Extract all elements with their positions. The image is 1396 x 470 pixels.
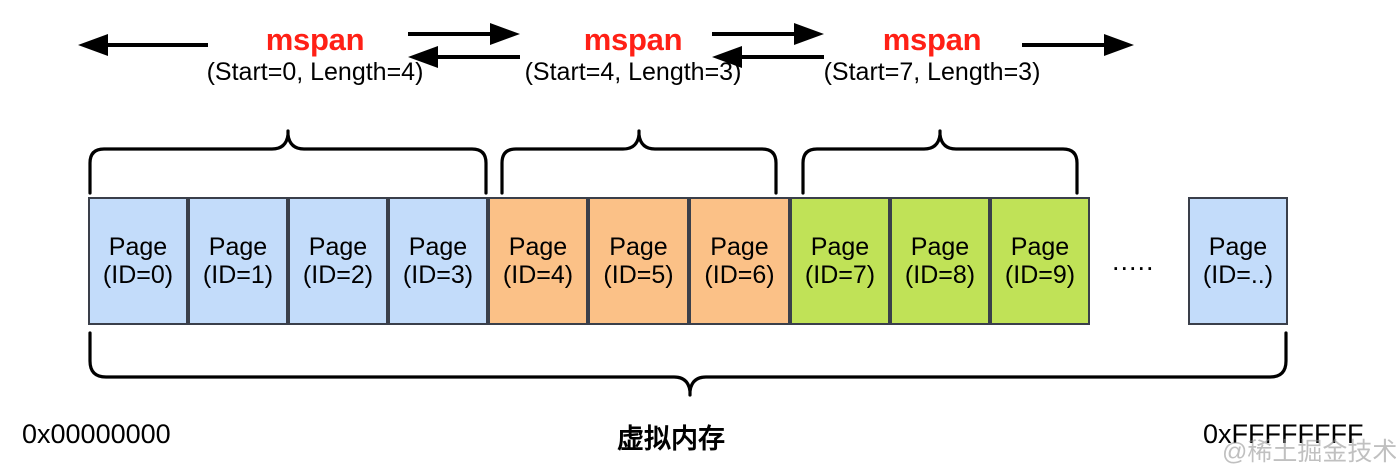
brace-span-0 [88, 131, 488, 193]
mspan-title: mspan [473, 24, 793, 57]
page-id: (ID=2) [303, 261, 373, 289]
page-label: Page [509, 233, 567, 261]
page-box[interactable]: Page (ID=2) [288, 197, 388, 325]
page-box[interactable]: Page (ID=5) [588, 197, 689, 325]
page-box[interactable]: Page (ID=7) [790, 197, 890, 325]
page-box[interactable]: Page (ID=4) [488, 197, 588, 325]
brace-span-2 [801, 131, 1079, 193]
mspan-params: (Start=7, Length=3) [772, 59, 1092, 85]
page-id: (ID=6) [704, 261, 774, 289]
page-label: Page [109, 233, 167, 261]
page-box[interactable]: Page (ID=6) [689, 197, 790, 325]
page-box[interactable]: Page (ID=0) [88, 197, 188, 325]
page-id: (ID=1) [203, 261, 273, 289]
page-label: Page [209, 233, 267, 261]
page-label: Page [309, 233, 367, 261]
virtual-memory-label: 虚拟内存 [617, 417, 725, 456]
memory-layout-diagram: mspan (Start=0, Length=4) mspan (Start=4… [0, 0, 1396, 470]
page-id: (ID=9) [1005, 261, 1075, 289]
mspan-title: mspan [148, 24, 482, 57]
page-label: Page [1209, 233, 1267, 261]
page-box[interactable]: Page (ID=9) [990, 197, 1090, 325]
brace-virtual-memory [88, 333, 1288, 395]
mspan-params: (Start=4, Length=3) [473, 59, 793, 85]
page-id: (ID=8) [905, 261, 975, 289]
page-id: (ID=0) [103, 261, 173, 289]
page-label: Page [811, 233, 869, 261]
address-end-label: 0xFFFFFFFF [1203, 419, 1363, 450]
page-label: Page [911, 233, 969, 261]
page-id: (ID=4) [503, 261, 573, 289]
address-start-label: 0x00000000 [22, 419, 171, 450]
mspan-label-0: mspan (Start=0, Length=4) [148, 24, 482, 85]
page-id: (ID=3) [403, 261, 473, 289]
page-label: Page [609, 233, 667, 261]
page-label: Page [710, 233, 768, 261]
page-id: (ID=5) [603, 261, 673, 289]
mspan-params: (Start=0, Length=4) [148, 59, 482, 85]
page-box[interactable]: Page (ID=8) [890, 197, 990, 325]
page-id: (ID=..) [1203, 261, 1273, 289]
page-box[interactable]: Page (ID=..) [1188, 197, 1288, 325]
mspan-label-2: mspan (Start=7, Length=3) [772, 24, 1092, 85]
mspan-title: mspan [772, 24, 1092, 57]
page-label: Page [409, 233, 467, 261]
pages-ellipsis: ..... [1112, 246, 1155, 277]
page-box[interactable]: Page (ID=1) [188, 197, 288, 325]
page-id: (ID=7) [805, 261, 875, 289]
mspan-label-1: mspan (Start=4, Length=3) [473, 24, 793, 85]
brace-span-1 [500, 131, 778, 193]
page-box[interactable]: Page (ID=3) [388, 197, 488, 325]
page-label: Page [1011, 233, 1069, 261]
